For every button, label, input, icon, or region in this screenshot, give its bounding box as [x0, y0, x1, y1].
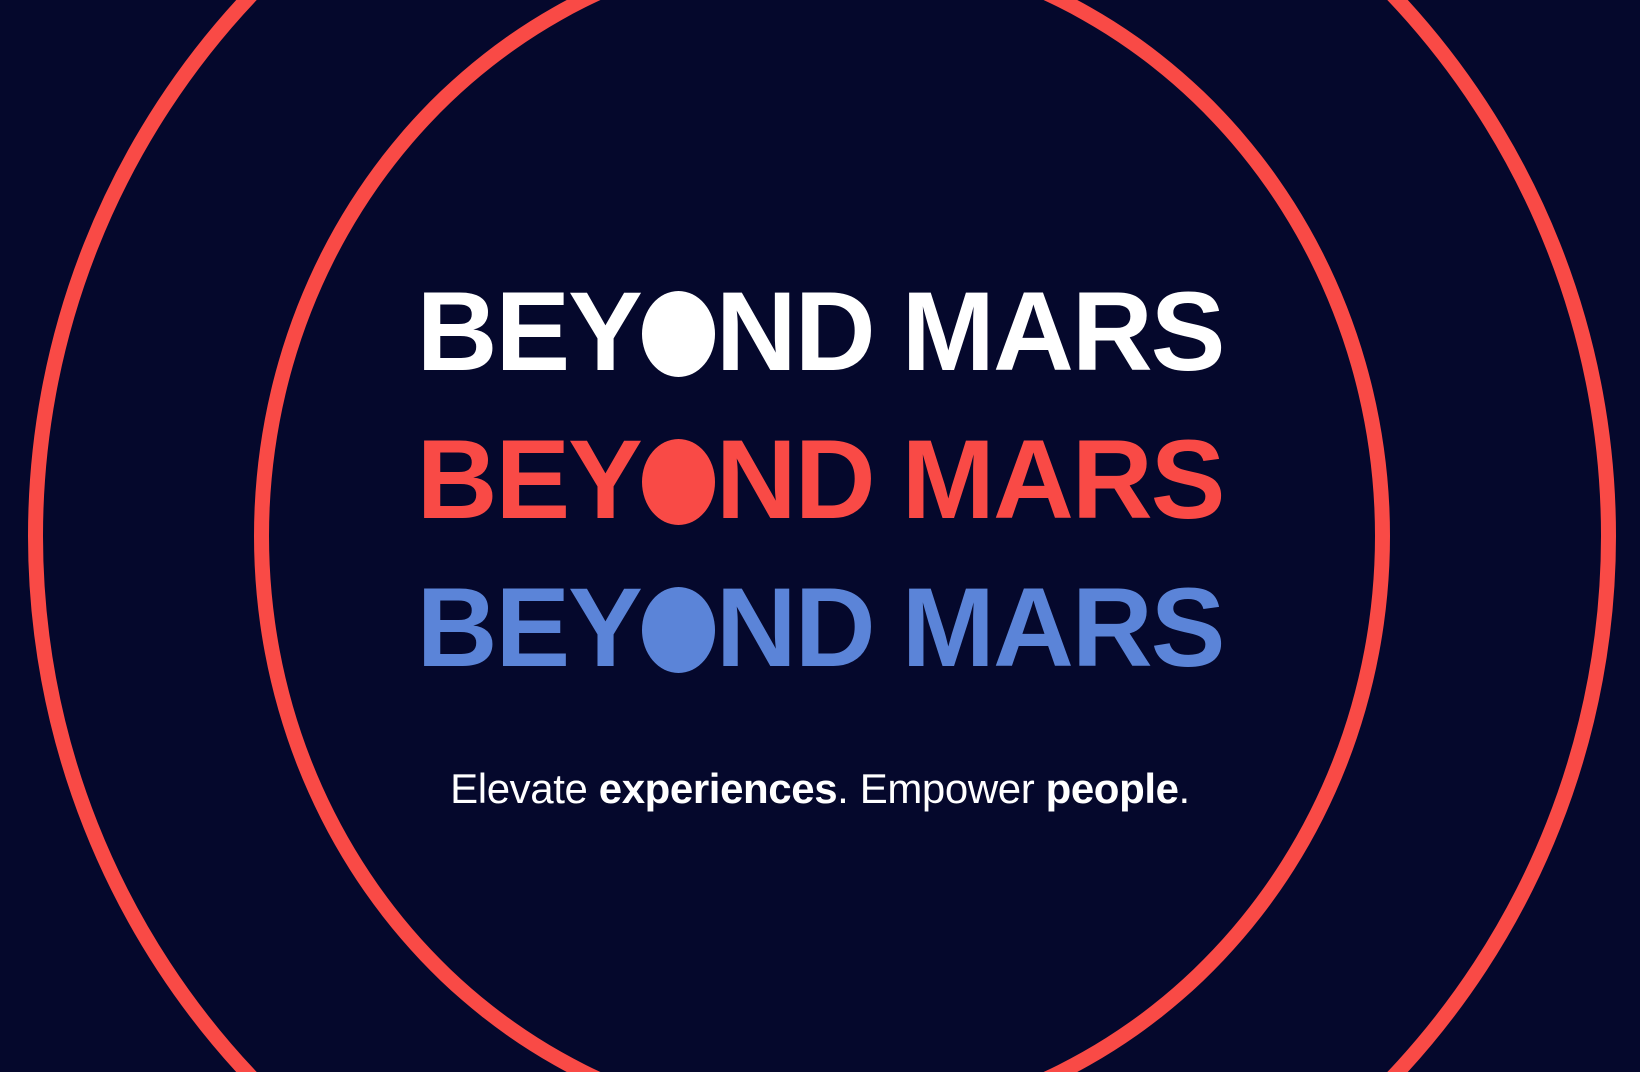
wordmark-suffix: ND — [716, 554, 874, 702]
tagline-segment-period-one: . — [837, 765, 860, 812]
wordmark-line-blue: BEY ND MARS — [417, 554, 1224, 702]
wordmark-suffix: ND — [716, 406, 874, 554]
wordmark-line-red: BEY ND MARS — [417, 406, 1224, 554]
tagline-segment-period-two: . — [1179, 765, 1190, 812]
wordmark-line-white: BEY ND MARS — [417, 258, 1224, 406]
tagline-segment-people: people — [1046, 765, 1179, 812]
wordmark-second-word: MARS — [902, 406, 1224, 554]
wordmark-second-word: MARS — [902, 258, 1224, 406]
letter-o-dot-icon — [642, 587, 715, 673]
wordmark-second-word: MARS — [902, 554, 1224, 702]
wordmark-prefix: BEY — [417, 554, 641, 702]
tagline-segment-experiences: experiences — [599, 765, 837, 812]
wordmark-suffix: ND — [716, 258, 874, 406]
wordmark-prefix: BEY — [417, 406, 641, 554]
tagline: Elevate experiences. Empower people. — [450, 764, 1190, 814]
letter-o-dot-icon — [642, 439, 715, 525]
tagline-segment-empower: Empower — [860, 765, 1046, 812]
wordmark-prefix: BEY — [417, 258, 641, 406]
letter-o-dot-icon — [642, 291, 715, 377]
wordmark-stack: BEY ND MARS BEY ND MARS BEY ND MARS — [417, 258, 1224, 702]
brand-lockup: BEY ND MARS BEY ND MARS BEY ND MARS — [0, 0, 1640, 1072]
tagline-segment-elevate: Elevate — [450, 765, 599, 812]
slide-canvas: BEY ND MARS BEY ND MARS BEY ND MARS — [0, 0, 1640, 1072]
